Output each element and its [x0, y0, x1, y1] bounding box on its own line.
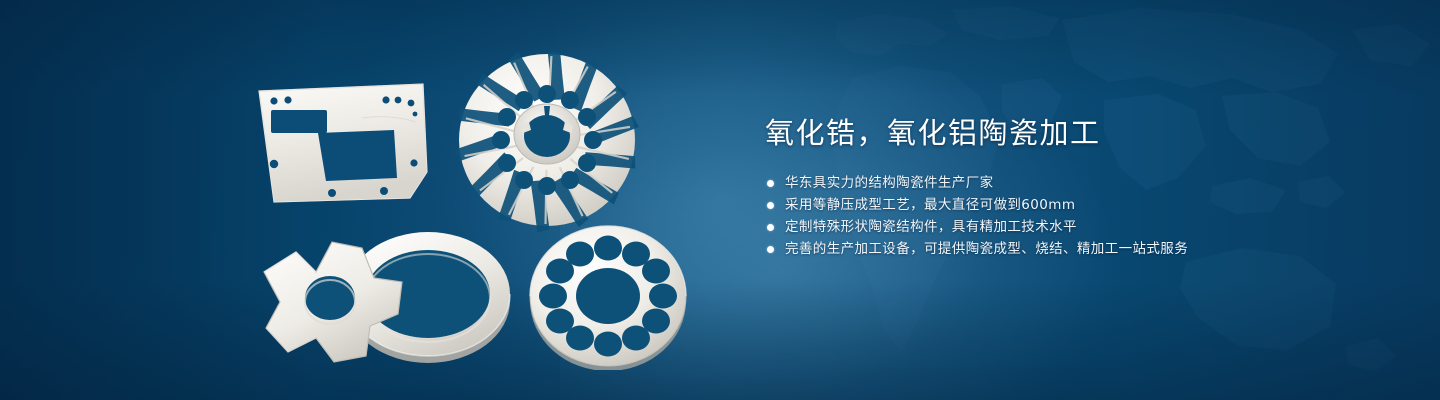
feature-list: 华东具实力的结构陶瓷件生产厂家 采用等静压成型工艺，最大直径可做到600mm 定… [767, 172, 1347, 260]
bullet-dot-icon [767, 180, 774, 187]
list-item-label: 华东具实力的结构陶瓷件生产厂家 [785, 172, 994, 194]
list-item-label: 定制特殊形状陶瓷结构件，具有精加工技术水平 [785, 216, 1077, 238]
ceramic-processing-banner: 氧化锆，氧化铝陶瓷加工 华东具实力的结构陶瓷件生产厂家 采用等静压成型工艺，最大… [0, 0, 1440, 400]
ceramic-plate [250, 78, 450, 208]
bullet-dot-icon [767, 224, 774, 231]
bullet-dot-icon [767, 202, 774, 209]
list-item: 定制特殊形状陶瓷结构件，具有精加工技术水平 [767, 216, 1347, 238]
banner-text-panel: 氧化锆，氧化铝陶瓷加工 华东具实力的结构陶瓷件生产厂家 采用等静压成型工艺，最大… [765, 0, 1365, 400]
page-title: 氧化锆，氧化铝陶瓷加工 [765, 113, 1101, 153]
list-item: 采用等静压成型工艺，最大直径可做到600mm [767, 194, 1347, 216]
ceramic-impeller [452, 52, 642, 232]
ceramic-perforated-disc [518, 222, 698, 370]
list-item-label: 完善的生产加工设备，可提供陶瓷成型、烧结、精加工一站式服务 [785, 238, 1188, 260]
list-item: 完善的生产加工设备，可提供陶瓷成型、烧结、精加工一站式服务 [767, 238, 1347, 260]
bullet-dot-icon [767, 246, 774, 253]
product-photo-group [0, 0, 720, 400]
list-item: 华东具实力的结构陶瓷件生产厂家 [767, 172, 1347, 194]
ceramic-cross-and-ring [248, 222, 528, 367]
list-item-label: 采用等静压成型工艺，最大直径可做到600mm [785, 194, 1075, 216]
